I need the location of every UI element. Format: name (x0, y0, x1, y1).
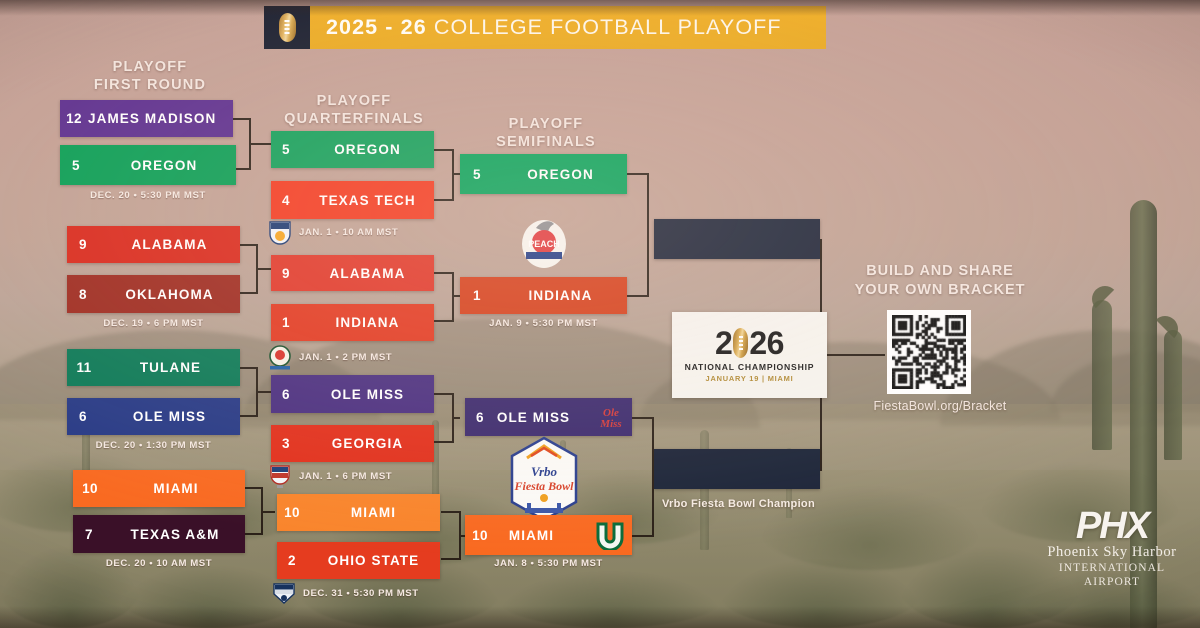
page-title: 2025 - 26 COLLEGE FOOTBALL PLAYOFF (326, 15, 782, 40)
team-name: INDIANA (301, 315, 434, 330)
cta-heading: BUILD AND SHARE YOUR OWN BRACKET (845, 262, 1035, 300)
team-name: INDIANA (494, 288, 627, 303)
game-datetime: JAN. 1 • 6 PM MST (299, 471, 392, 482)
team-name: MIAMI (307, 505, 440, 520)
game-datetime: DEC. 20 • 10 AM MST (106, 558, 212, 569)
team-box[interactable]: 10 MIAMI (277, 494, 440, 531)
team-seed: 1 (460, 288, 494, 303)
team-name: GEORGIA (301, 436, 434, 451)
team-box[interactable]: 9 ALABAMA (67, 226, 240, 263)
phx-line-2: INTERNATIONAL AIRPORT (1032, 561, 1192, 589)
game-datetime: DEC. 31 • 5:30 PM MST (303, 588, 419, 599)
team-seed: 1 (271, 315, 301, 330)
cfp-football-icon (264, 6, 310, 49)
allstate-sugar-bowl-logo (266, 462, 294, 490)
team-seed: 8 (67, 287, 99, 302)
team-box[interactable]: 9 ALABAMA (271, 255, 434, 291)
game-datetime: DEC. 20 • 1:30 PM MST (96, 440, 212, 451)
team-name: OKLAHOMA (99, 287, 240, 302)
team-seed: 9 (271, 266, 301, 281)
team-name: OREGON (301, 142, 434, 157)
champ-subtitle: NATIONAL CHAMPIONSHIP (685, 362, 815, 372)
game-datetime: DEC. 19 • 6 PM MST (103, 318, 203, 329)
team-seed: 5 (460, 167, 494, 182)
svg-text:Vrbo: Vrbo (531, 464, 558, 479)
team-box[interactable]: 10 MIAMI (465, 515, 632, 555)
game-datetime: JAN. 1 • 2 PM MST (299, 352, 392, 363)
game-info: DEC. 31 • 5:30 PM MST (270, 579, 419, 607)
game-info: DEC. 20 • 5:30 PM MST (60, 190, 236, 201)
svg-text:PEACH: PEACH (528, 239, 560, 249)
team-box[interactable]: 8 OKLAHOMA (67, 275, 240, 313)
team-box[interactable]: 5 OREGON (460, 154, 627, 194)
champion-caption: Vrbo Fiesta Bowl Champion (662, 498, 815, 510)
team-name: OHIO STATE (307, 553, 440, 568)
team-name: OLE MISS (301, 387, 434, 402)
cfp-football-icon (733, 328, 748, 358)
team-seed: 10 (73, 481, 107, 496)
ole-miss-logo: OleMiss (590, 404, 632, 430)
game-info: DEC. 20 • 10 AM MST (73, 558, 245, 569)
team-seed: 12 (60, 111, 88, 126)
game-datetime: JAN. 1 • 10 AM MST (299, 227, 398, 238)
team-seed: 11 (67, 360, 101, 375)
header-title-bold: 2025 - 26 (326, 15, 427, 39)
goodyear-cotton-bowl-logo (270, 579, 298, 607)
team-box[interactable]: 5 OREGON (271, 131, 434, 168)
header-bar: 2025 - 26 COLLEGE FOOTBALL PLAYOFF (310, 6, 826, 49)
team-name: JAMES MADISON (88, 111, 233, 126)
team-box[interactable]: 11 TULANE (67, 349, 240, 386)
team-name: OREGON (494, 167, 627, 182)
championship-slot-bottom[interactable] (654, 449, 820, 489)
championship-slot-top[interactable] (654, 219, 820, 259)
team-name: OLE MISS (99, 409, 240, 424)
vrbo-fiesta-bowl-logo: Vrbo Fiesta Bowl (505, 436, 583, 522)
team-box[interactable]: 2 OHIO STATE (277, 542, 440, 579)
team-seed: 4 (271, 193, 301, 208)
miami-u-logo (588, 520, 632, 550)
team-box[interactable]: 7 TEXAS A&M (73, 515, 245, 553)
qr-code-canvas (892, 315, 966, 389)
team-seed: 7 (73, 527, 105, 542)
game-info: JAN. 1 • 2 PM MST (266, 343, 392, 371)
champ-date: JANUARY 19 | MIAMI (706, 374, 794, 383)
team-seed: 2 (277, 553, 307, 568)
team-seed: 9 (67, 237, 99, 252)
team-name: OREGON (92, 158, 236, 173)
champ-year-right: 26 (749, 327, 784, 359)
team-box[interactable]: 12 JAMES MADISON (60, 100, 233, 137)
national-championship-logo: 2 26 NATIONAL CHAMPIONSHIP JANUARY 19 | … (672, 312, 827, 398)
team-box[interactable]: 6 OLE MISS (67, 398, 240, 435)
team-name: OLE MISS (477, 410, 590, 425)
team-name: MIAMI (475, 528, 588, 543)
round-title-first-round: PLAYOFF FIRST ROUND (80, 58, 220, 94)
capital-one-orange-bowl-logo (266, 218, 294, 246)
champ-year-left: 2 (715, 327, 732, 359)
bracket-url[interactable]: FiestaBowl.org/Bracket (845, 399, 1035, 413)
game-info: DEC. 19 • 6 PM MST (67, 318, 240, 329)
team-box[interactable]: 6 OLE MISS OleMiss (465, 398, 632, 436)
chick-fil-a-peach-bowl-logo: PEACH (518, 214, 570, 270)
team-box[interactable]: 3 GEORGIA (271, 425, 434, 462)
team-box[interactable]: 4 TEXAS TECH (271, 181, 434, 219)
team-box[interactable]: 1 INDIANA (271, 304, 434, 341)
phx-line-1: Phoenix Sky Harbor (1032, 544, 1192, 561)
qr-code-icon[interactable] (887, 310, 971, 394)
team-seed: 5 (271, 142, 301, 157)
rose-bowl-logo (266, 343, 294, 371)
round-title-quarterfinals: PLAYOFF QUARTERFINALS (272, 92, 436, 128)
svg-text:Fiesta Bowl: Fiesta Bowl (513, 479, 574, 493)
game-datetime: DEC. 20 • 5:30 PM MST (90, 190, 206, 201)
game-info: JAN. 1 • 6 PM MST (266, 462, 392, 490)
team-name: TEXAS TECH (301, 193, 434, 208)
team-name: ALABAMA (301, 266, 434, 281)
game-datetime: JAN. 8 • 5:30 PM MST (494, 558, 603, 569)
team-name: TEXAS A&M (105, 527, 245, 542)
game-info: DEC. 20 • 1:30 PM MST (67, 440, 240, 451)
header-banner: 2025 - 26 COLLEGE FOOTBALL PLAYOFF (264, 6, 826, 49)
phx-wordmark: PHX (1032, 508, 1192, 544)
game-info: JAN. 9 • 5:30 PM MST (460, 318, 627, 329)
team-box[interactable]: 1 INDIANA (460, 277, 627, 314)
team-name: TULANE (101, 360, 240, 375)
header-title-rest: COLLEGE FOOTBALL PLAYOFF (427, 15, 782, 39)
team-name: MIAMI (107, 481, 245, 496)
team-box[interactable]: 5 OREGON (60, 145, 236, 185)
team-box[interactable]: 6 OLE MISS (271, 375, 434, 413)
team-seed: 10 (277, 505, 307, 520)
round-title-semifinals: PLAYOFF SEMIFINALS (470, 115, 622, 151)
game-info: JAN. 1 • 10 AM MST (266, 218, 398, 246)
team-box[interactable]: 10 MIAMI (73, 470, 245, 507)
svg-text:Miss: Miss (599, 418, 621, 430)
team-seed: 6 (271, 387, 301, 402)
team-seed: 5 (60, 158, 92, 173)
game-info: JAN. 8 • 5:30 PM MST (465, 558, 632, 569)
game-datetime: JAN. 9 • 5:30 PM MST (489, 318, 598, 329)
team-seed: 6 (67, 409, 99, 424)
team-name: ALABAMA (99, 237, 240, 252)
team-seed: 3 (271, 436, 301, 451)
phx-airport-logo: PHX Phoenix Sky Harbor INTERNATIONAL AIR… (1032, 508, 1192, 589)
